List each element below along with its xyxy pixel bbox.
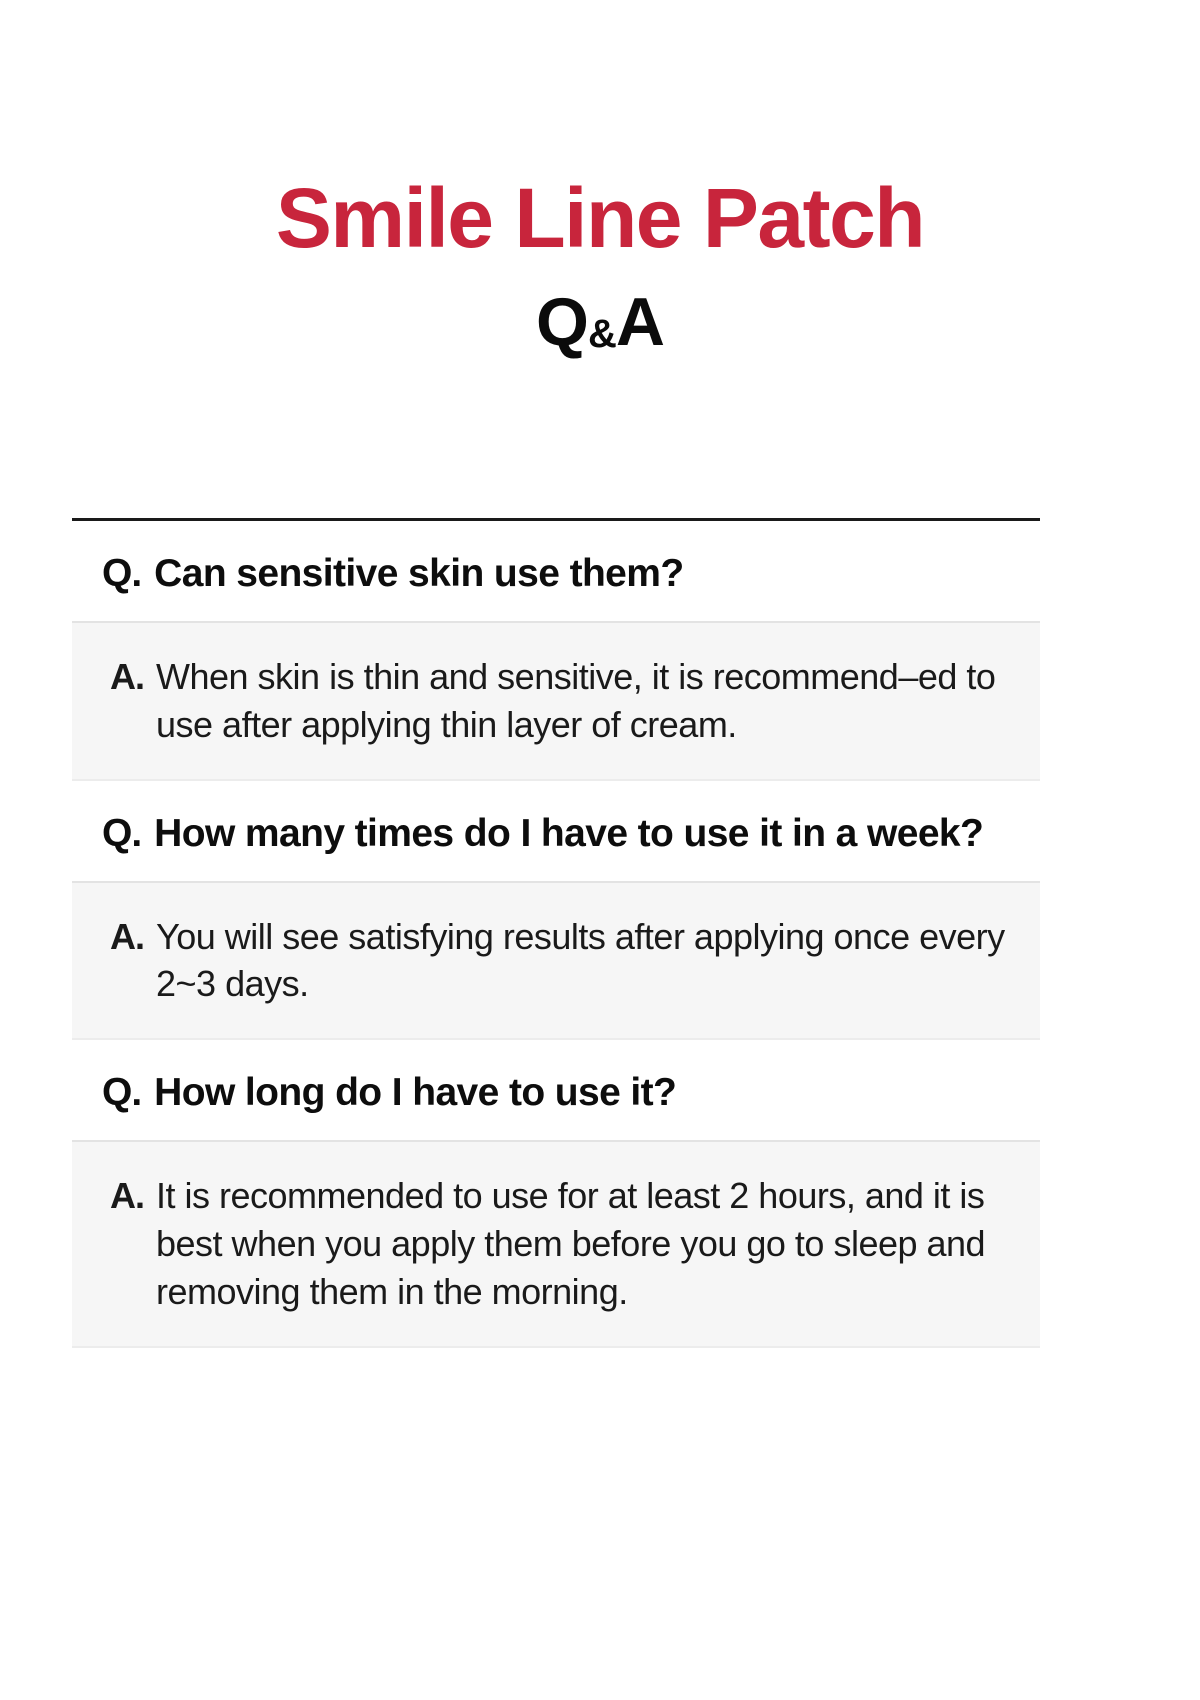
page-title: Smile Line Patch (0, 176, 1200, 260)
answer-text: It is recommended to use for at least 2 … (156, 1172, 1018, 1316)
question-marker: Q. (102, 549, 154, 599)
qa-heading-ampersand: & (588, 312, 616, 356)
qa-item: Q. How long do I have to use it? A. It i… (72, 1040, 1040, 1348)
qa-item: Q. How many times do I have to use it in… (72, 781, 1040, 1041)
answer-text: When skin is thin and sensitive, it is r… (156, 653, 1018, 749)
question-marker: Q. (102, 809, 154, 859)
question-marker: Q. (102, 1068, 154, 1118)
question-row[interactable]: Q. How many times do I have to use it in… (72, 781, 1040, 881)
qa-item: Q. Can sensitive skin use them? A. When … (72, 521, 1040, 781)
question-text: How long do I have to use it? (154, 1068, 1040, 1118)
answer-marker: A. (110, 913, 156, 961)
question-row[interactable]: Q. How long do I have to use it? (72, 1040, 1040, 1140)
question-text: Can sensitive skin use them? (154, 549, 1040, 599)
answer-row: A. You will see satisfying results after… (72, 881, 1040, 1041)
qa-list: Q. Can sensitive skin use them? A. When … (72, 518, 1040, 1348)
qa-heading-a: A (616, 284, 664, 360)
question-row[interactable]: Q. Can sensitive skin use them? (72, 521, 1040, 621)
qa-heading-q: Q (536, 284, 588, 360)
answer-row: A. It is recommended to use for at least… (72, 1140, 1040, 1348)
qa-heading: Q&A (0, 288, 1200, 356)
page-header: Smile Line Patch Q&A (0, 0, 1200, 356)
question-text: How many times do I have to use it in a … (154, 809, 1040, 859)
answer-text: You will see satisfying results after ap… (156, 913, 1018, 1009)
answer-marker: A. (110, 653, 156, 701)
answer-marker: A. (110, 1172, 156, 1220)
answer-row: A. When skin is thin and sensitive, it i… (72, 621, 1040, 781)
qa-page: Smile Line Patch Q&A Q. Can sensitive sk… (0, 0, 1200, 1700)
